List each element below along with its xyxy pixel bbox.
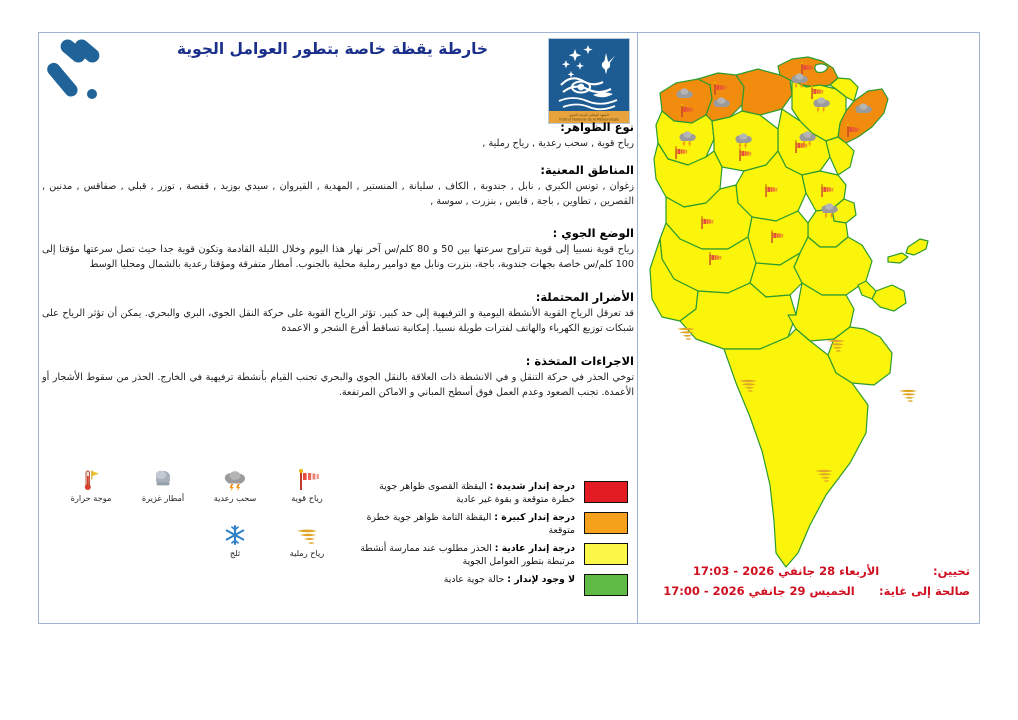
level-color-swatch bbox=[584, 481, 628, 503]
level-title: درجة إندار عادية : bbox=[495, 543, 575, 554]
legend-item-heavy-rain: أمطار غزيرة bbox=[127, 468, 199, 504]
section-heading: نوع الظواهر: bbox=[42, 120, 634, 135]
sandstorm-swirl-icon bbox=[271, 523, 343, 547]
until-value: الخميس 29 جانفي 2026 - 17:00 bbox=[645, 582, 873, 602]
section-body: زغوان , تونس الكبري , نابل , جندوبة , ال… bbox=[42, 180, 634, 210]
legend-label: أمطار غزيرة bbox=[127, 494, 199, 504]
legend-item-snow: ثلج bbox=[199, 523, 271, 559]
level-description: حالة جوية عادية bbox=[444, 574, 507, 585]
section-body: رياح قوية نسبيا إلى قوية تتراوح سرعتها ب… bbox=[42, 243, 634, 273]
section-affected-regions: المناطق المعنية: زغوان , تونس الكبري , ن… bbox=[42, 163, 634, 210]
level-color-swatch bbox=[584, 543, 628, 565]
legend-label: رياح قوية bbox=[271, 494, 343, 504]
legend-item-heatwave: موجة حرارة bbox=[55, 468, 127, 504]
alert-level-high: درجة إندار كبيرة : اليقظة التامة ظواهر ج… bbox=[360, 512, 628, 537]
section-heading: الاجراءات المتخذة : bbox=[42, 354, 634, 369]
section-weather-situation: الوضع الجوي : رياح قوية نسبيا إلى قوية ت… bbox=[42, 226, 634, 273]
section-heading: المناطق المعنية: bbox=[42, 163, 634, 178]
section-body: توخي الحذر في حركة التنقل و في الانشطة ذ… bbox=[42, 371, 634, 401]
legend-label: ثلج bbox=[199, 549, 271, 559]
section-potential-damage: الأضرار المحتملة: قد تعرقل الرياح القوية… bbox=[42, 290, 634, 337]
level-title: لا وجود لإندار : bbox=[507, 574, 575, 585]
legend-label: موجة حرارة bbox=[55, 494, 127, 504]
legend-item-strong-wind: رياح قوية bbox=[271, 468, 343, 504]
heavy-rain-cloud-icon bbox=[127, 468, 199, 492]
alert-level-normal: درجة إندار عادية : الحذر مطلوب عند ممارس… bbox=[360, 543, 628, 568]
phenomena-legend-row-1: رياح قوية bbox=[55, 468, 343, 504]
inm-stripes-logo bbox=[44, 36, 116, 108]
legend-item-thunderstorm: سحب رعدية bbox=[199, 468, 271, 504]
windsock-strong-wind-icon bbox=[271, 468, 343, 492]
phenomena-legend: رياح قوية bbox=[55, 468, 355, 578]
phenomena-legend-row-2: رياح رملية bbox=[199, 523, 343, 559]
section-heading: الأضرار المحتملة: bbox=[42, 290, 634, 305]
section-measures-taken: الاجراءات المتخذة : توخي الحذر في حركة ا… bbox=[42, 354, 634, 401]
bulletin-text-column: نوع الظواهر: رياح قوية , سحب رعدية , ريا… bbox=[42, 120, 634, 411]
section-body: قد تعرقل الرياح القوية الأنشطة اليومية و… bbox=[42, 307, 634, 337]
level-color-swatch bbox=[584, 574, 628, 596]
until-label: صالحة إلى غاية: bbox=[879, 582, 970, 602]
vigilance-map-page: خارطة يقظة خاصة بتطور العوامل الجوية bbox=[0, 0, 1018, 720]
section-heading: الوضع الجوي : bbox=[42, 226, 634, 241]
section-body: رياح قوية , سحب رعدية , رياح رملية , bbox=[42, 137, 634, 152]
alert-level-legend: درجة إندار شديدة : اليقظة القصوى ظواهر ج… bbox=[360, 481, 628, 602]
level-title: درجة إندار شديدة : bbox=[490, 481, 575, 492]
level-color-swatch bbox=[584, 512, 628, 534]
thunderstorm-cloud-icon bbox=[199, 468, 271, 492]
thermometer-heatwave-icon bbox=[55, 468, 127, 492]
alert-level-none: لا وجود لإندار : حالة جوية عادية bbox=[360, 574, 628, 596]
legend-item-sandstorm: رياح رملية bbox=[271, 523, 343, 559]
level-title: درجة إندار كبيرة : bbox=[494, 512, 575, 523]
section-phenomena-type: نوع الظواهر: رياح قوية , سحب رعدية , ريا… bbox=[42, 120, 634, 152]
svg-text:المعهد الوطني للرصد الجوي: المعهد الوطني للرصد الجوي bbox=[569, 113, 609, 117]
legend-label: سحب رعدية bbox=[199, 494, 271, 504]
panel-divider bbox=[637, 32, 638, 624]
alert-level-severe: درجة إندار شديدة : اليقظة القصوى ظواهر ج… bbox=[360, 481, 628, 506]
legend-label: رياح رملية bbox=[271, 549, 343, 559]
inm-emblem-logo: المعهد الوطني للرصد الجوي Institut Natio… bbox=[548, 38, 630, 124]
until-row: صالحة إلى غاية: الخميس 29 جانفي 2026 - 1… bbox=[645, 582, 970, 602]
page-title: خارطة يقظة خاصة بتطور العوامل الجوية bbox=[130, 38, 535, 60]
snowflake-icon bbox=[199, 523, 271, 547]
tunisia-vigilance-map bbox=[640, 33, 979, 573]
